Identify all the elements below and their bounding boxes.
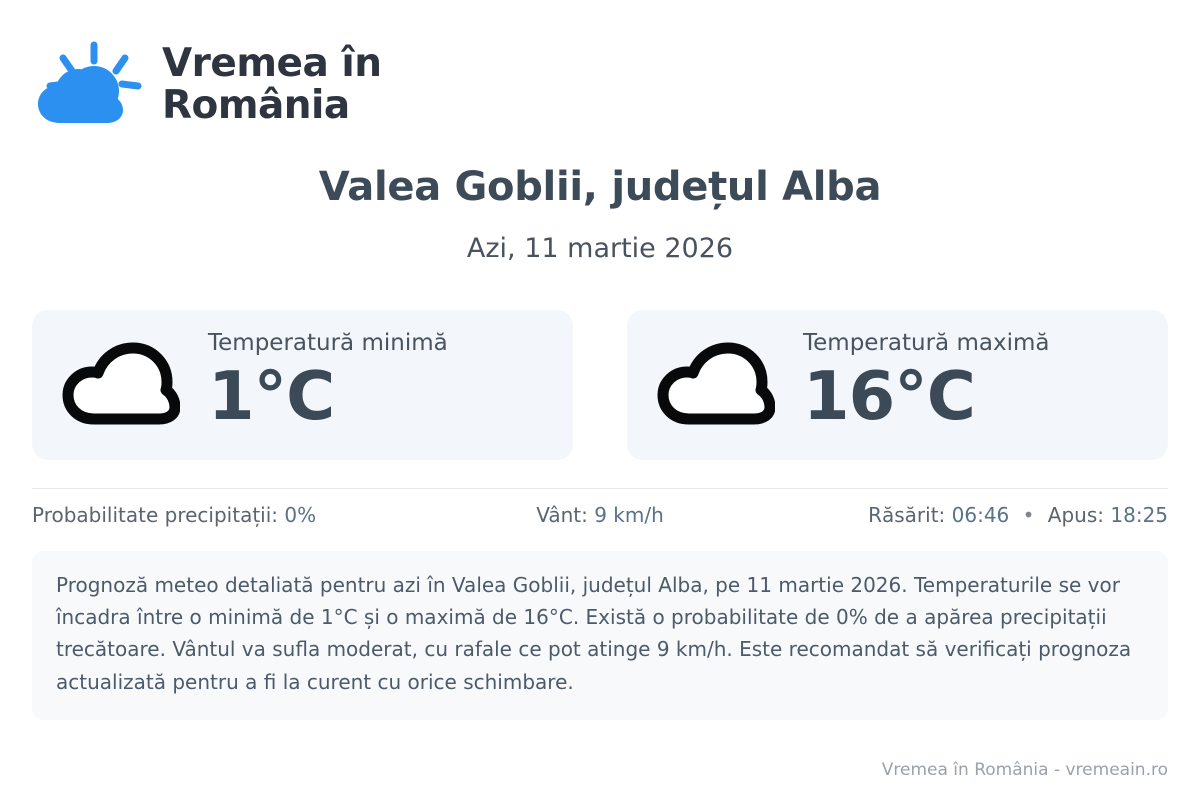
max-temperature-card: Temperatură maximă 16°C [627, 310, 1168, 460]
precipitation-value: 0% [284, 503, 316, 527]
site-header: Vremea în România [32, 0, 1168, 122]
cloud-icon [58, 337, 182, 433]
footer-credit: Vremea în România - vremeain.ro [882, 760, 1168, 780]
wind-stat: Vânt: 9 km/h [411, 503, 790, 527]
min-temperature-card: Temperatură minimă 1°C [32, 310, 573, 460]
weather-page: Vremea în România Valea Goblii, județul … [0, 0, 1200, 800]
max-temperature-value: 16°C [803, 359, 1049, 434]
sunset-label: Apus: [1048, 503, 1104, 527]
cloud-icon [653, 337, 777, 433]
forecast-description: Prognoză meteo detaliată pentru azi în V… [32, 551, 1168, 721]
stats-row: Probabilitate precipitații: 0% Vânt: 9 k… [32, 489, 1168, 541]
max-temperature-label: Temperatură maximă [803, 331, 1049, 356]
page-subtitle: Azi, 11 martie 2026 [32, 233, 1168, 265]
temperature-cards: Temperatură minimă 1°C Temperatură maxim… [32, 310, 1168, 460]
title-block: Valea Goblii, județul Alba Azi, 11 marti… [32, 164, 1168, 266]
brand-name: Vremea în România [162, 43, 381, 127]
min-temperature-info: Temperatură minimă 1°C [208, 331, 448, 437]
min-temperature-label: Temperatură minimă [208, 331, 448, 356]
sunrise-label: Răsărit: [868, 503, 945, 527]
precipitation-label: Probabilitate precipitații: [32, 503, 278, 527]
sun-cloud-icon [32, 39, 144, 131]
sunset-value: 18:25 [1110, 503, 1168, 527]
wind-label: Vânt: [536, 503, 588, 527]
max-temperature-info: Temperatură maximă 16°C [803, 331, 1049, 437]
page-title: Valea Goblii, județul Alba [32, 164, 1168, 211]
min-temperature-value: 1°C [208, 359, 448, 434]
sunrise-value: 06:46 [952, 503, 1010, 527]
sun-separator: • [1016, 503, 1042, 527]
precipitation-stat: Probabilitate precipitații: 0% [32, 503, 411, 527]
sun-times-stat: Răsărit: 06:46 • Apus: 18:25 [789, 503, 1168, 527]
wind-value: 9 km/h [594, 503, 664, 527]
